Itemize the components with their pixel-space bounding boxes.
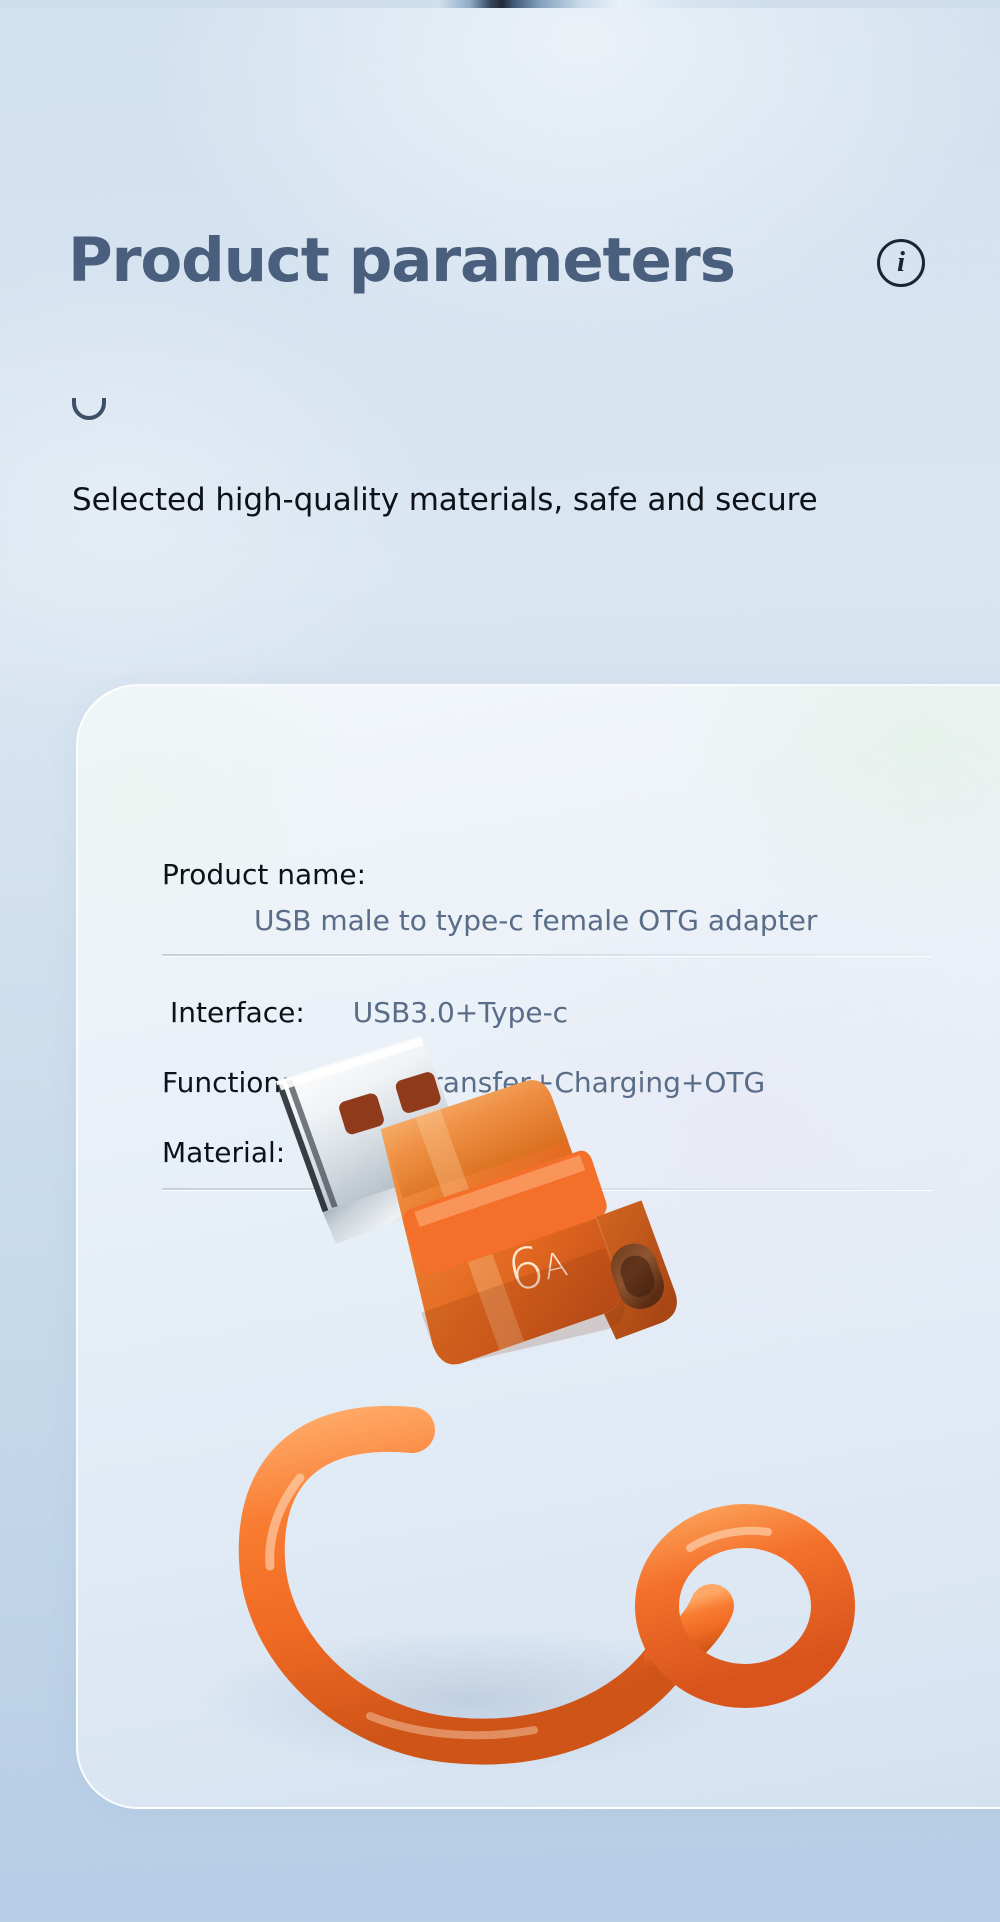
parameter-list: Product name: USB male to type-c female …	[162, 858, 962, 1190]
table-row: Product name: USB male to type-c female …	[162, 858, 962, 956]
product-parameters-card: Product name: USB male to type-c female …	[76, 684, 1000, 1809]
info-circle-icon[interactable]: i	[877, 239, 925, 287]
u-shape-decoration-icon	[72, 398, 106, 420]
param-label-function: Function:	[162, 1066, 291, 1099]
param-label-interface: Interface:	[170, 996, 305, 1029]
info-icon-glyph: i	[897, 248, 905, 277]
param-value-interface: USB3.0+Type-c	[353, 996, 568, 1029]
row-divider	[162, 954, 932, 956]
table-row: Interface: USB3.0+Type-c	[162, 996, 962, 1029]
param-value-function: Data Transfer+Charging+OTG	[343, 1066, 766, 1099]
table-row: Material: Aluminum alloy	[162, 1136, 962, 1169]
page-title: Product parameters	[68, 225, 735, 296]
param-label-material: Material:	[162, 1136, 285, 1169]
param-value-material: Aluminum alloy	[329, 1136, 547, 1169]
previous-section-sliver	[0, 0, 1000, 8]
param-label-product-name: Product name:	[162, 858, 962, 891]
row-divider	[162, 1188, 932, 1190]
table-row: Function: Data Transfer+Charging+OTG	[162, 1066, 962, 1099]
section-header: Product parameters i	[0, 225, 1000, 335]
param-value-product-name: USB male to type-c female OTG adapter	[254, 904, 962, 937]
section-subtitle: Selected high-quality materials, safe an…	[72, 482, 818, 518]
